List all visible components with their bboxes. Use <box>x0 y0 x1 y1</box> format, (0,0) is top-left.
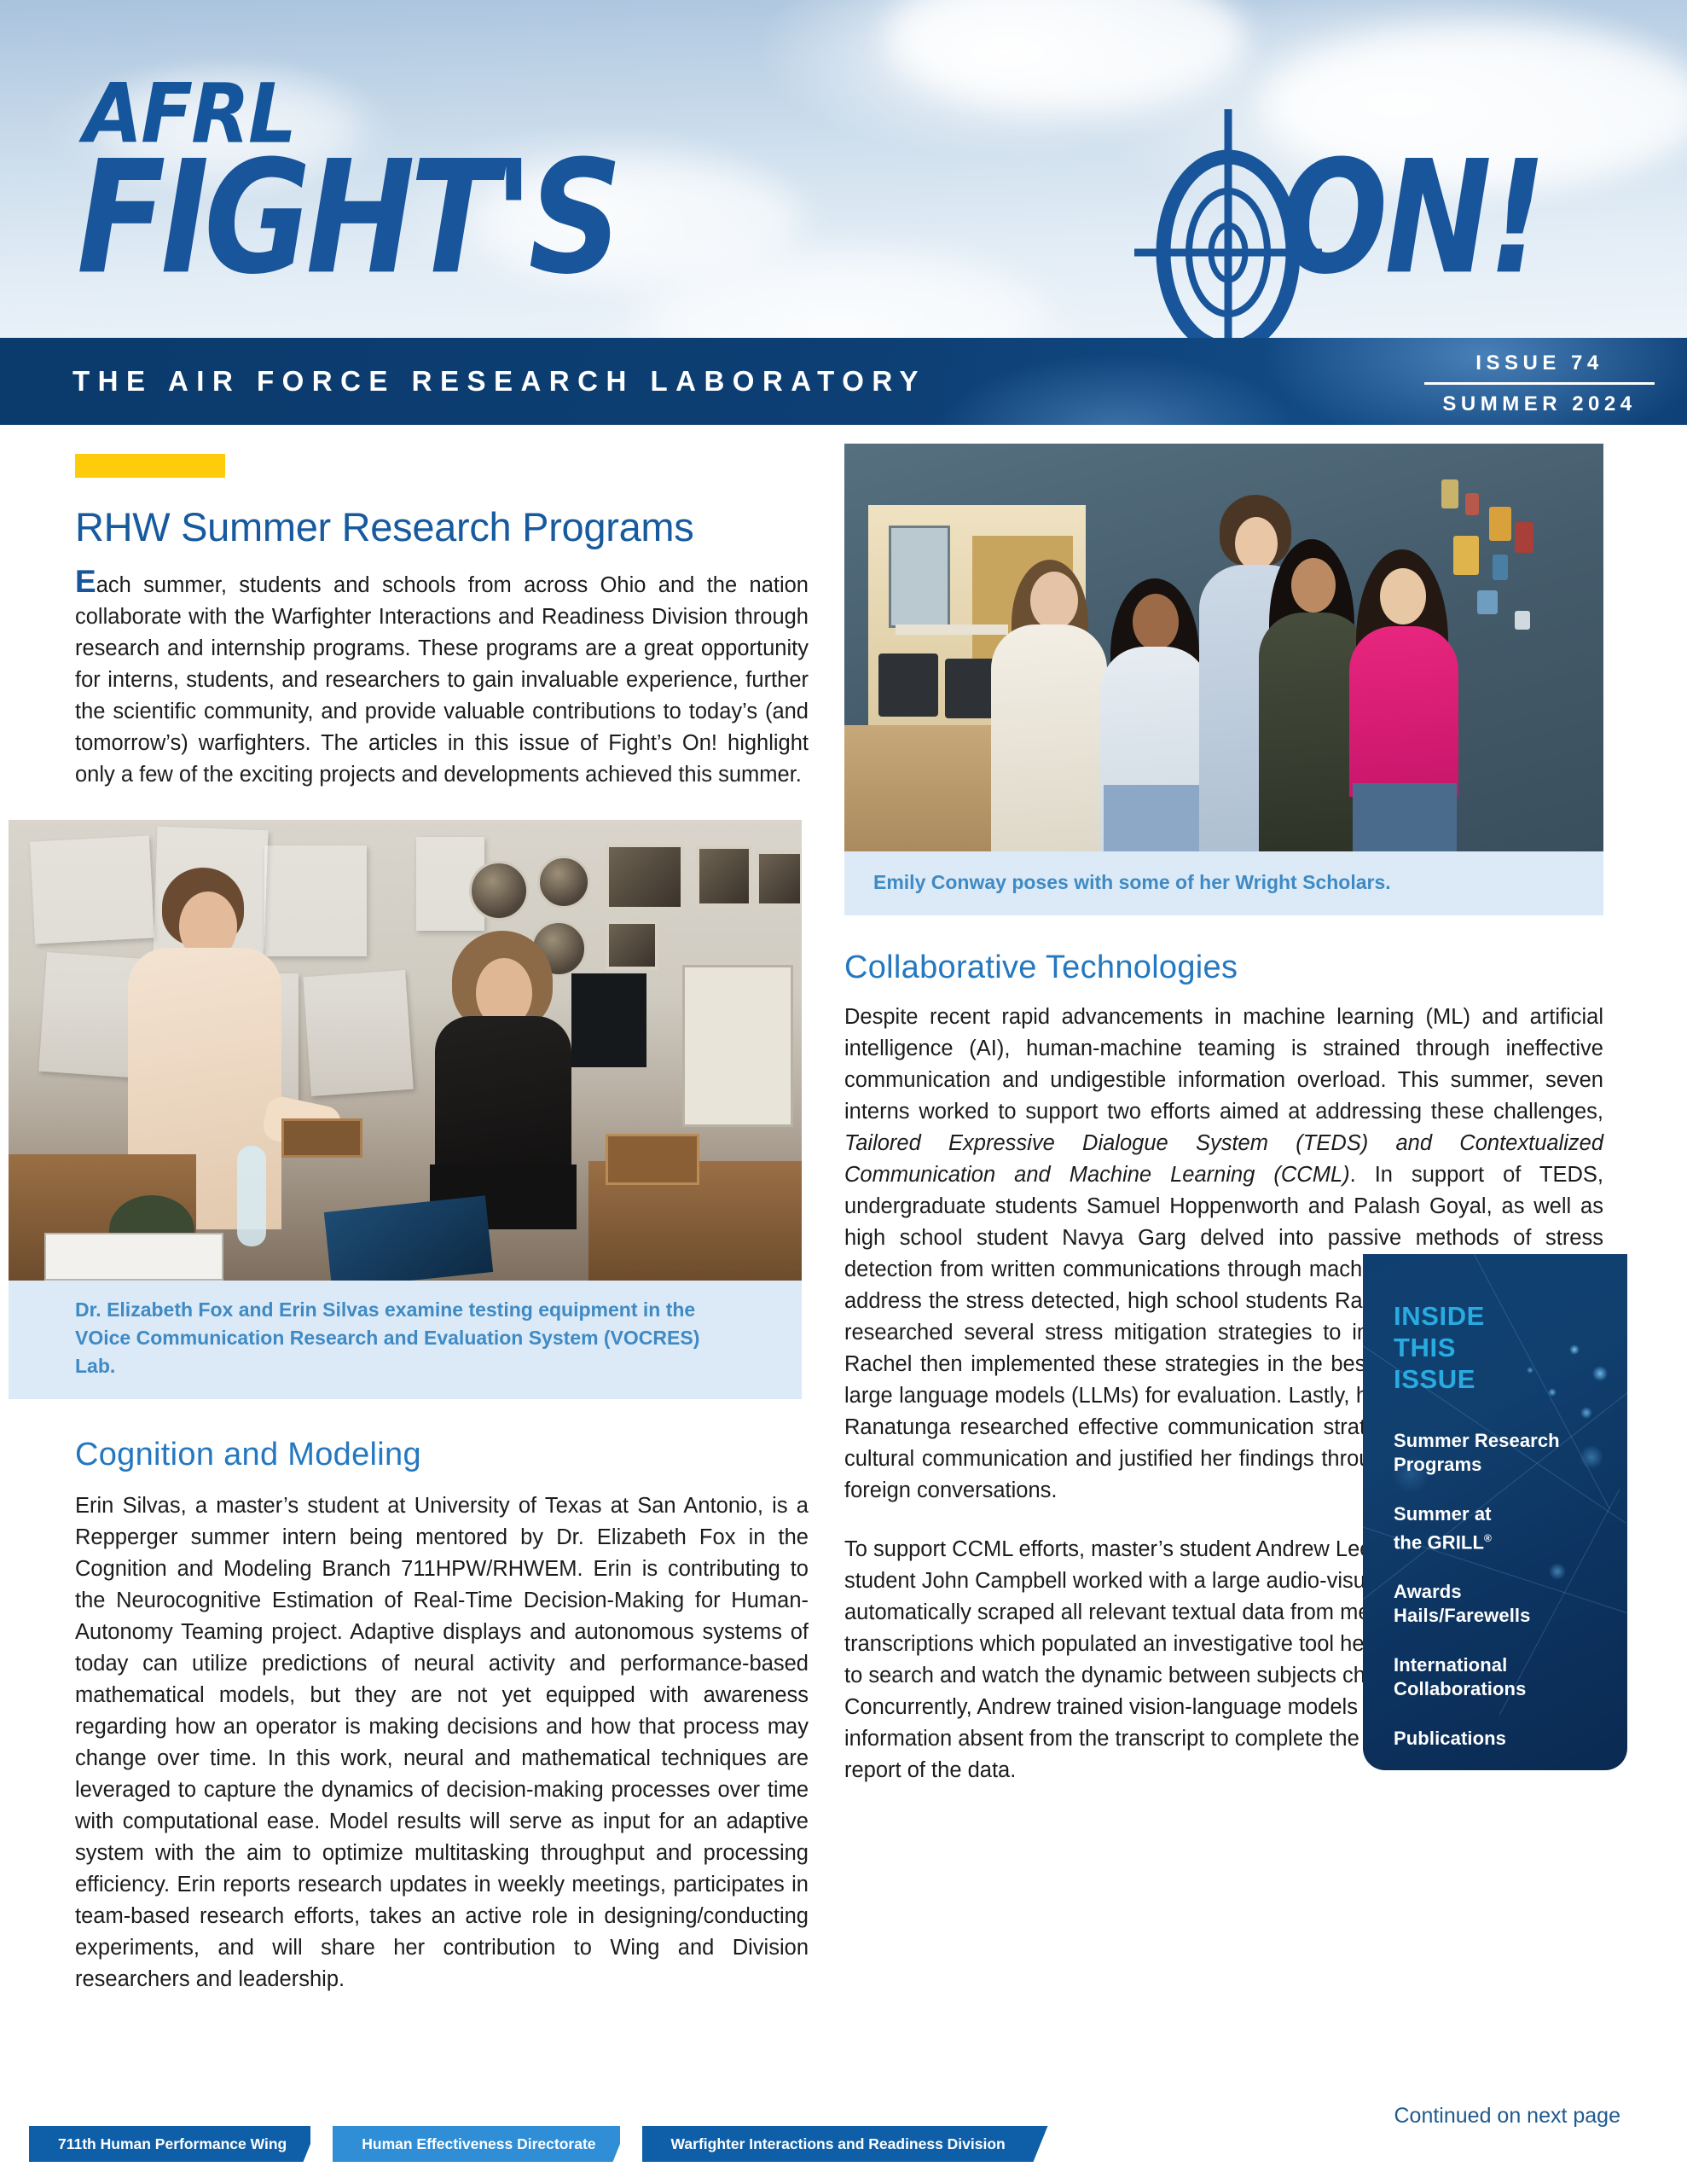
title-bar: THE AIR FORCE RESEARCH LABORATORY ISSUE … <box>0 338 1687 425</box>
accent-bar <box>75 454 225 478</box>
inside-item-summer-research[interactable]: Summer Research Programs <box>1394 1429 1627 1477</box>
inside-item-line-1: International <box>1394 1653 1627 1677</box>
group-photo-caption: Emily Conway poses with some of her Wrig… <box>844 851 1603 915</box>
cognition-body: Erin Silvas, a master’s student at Unive… <box>75 1490 809 1995</box>
cloud-decoration <box>887 0 1245 111</box>
section-heading-collaborative: Collaborative Technologies <box>844 950 1603 986</box>
inside-heading-line-1: INSIDE <box>1394 1300 1627 1332</box>
footer-segment-wing: 711th Human Performance Wing <box>29 2126 310 2162</box>
page-title: RHW Summer Research Programs <box>75 503 809 550</box>
section-heading-cognition: Cognition and Modeling <box>75 1437 809 1473</box>
inside-item-line-1: Awards <box>1394 1580 1627 1604</box>
inside-item-awards[interactable]: Awards Hails/Farewells <box>1394 1580 1627 1628</box>
inside-item-line-2: Hails/Farewells <box>1394 1604 1627 1628</box>
inside-this-issue-list: Summer Research Programs Summer at the G… <box>1394 1429 1627 1751</box>
inside-item-summer-grill[interactable]: Summer at the GRILL® <box>1394 1502 1627 1554</box>
inside-item-line-2: Programs <box>1394 1453 1627 1477</box>
inside-heading-line-2: THIS <box>1394 1332 1627 1363</box>
lede-text: Each summer, students and schools from a… <box>75 573 809 787</box>
inside-item-publications[interactable]: Publications <box>1394 1727 1627 1751</box>
lab-photo-caption: Dr. Elizabeth Fox and Erin Silvas examin… <box>9 1281 802 1399</box>
registered-mark-icon: ® <box>1484 1532 1492 1544</box>
inside-heading-line-3: ISSUE <box>1394 1363 1627 1395</box>
issue-number: ISSUE 74 <box>1416 350 1663 377</box>
footer-org-bar: 711th Human Performance Wing Human Effec… <box>29 2126 1041 2162</box>
lab-photo <box>9 820 802 1281</box>
inside-item-line-1: Summer Research <box>1394 1429 1627 1453</box>
continued-note: Continued on next page <box>1348 2104 1620 2129</box>
footer-segment-directorate: Human Effectiveness Directorate <box>333 2126 619 2162</box>
inside-item-international[interactable]: International Collaborations <box>1394 1653 1627 1701</box>
inside-item-line-2-text: the GRILL <box>1394 1531 1484 1553</box>
inside-item-line-2: the GRILL® <box>1394 1526 1627 1554</box>
inside-this-issue-heading: INSIDE THIS ISSUE <box>1394 1300 1627 1395</box>
issue-block: ISSUE 74 SUMMER 2024 <box>1416 350 1663 419</box>
masthead-banner: AFRL FIGHT'S ON! <box>0 0 1687 341</box>
logo-on-text: ON! <box>1279 128 1543 309</box>
group-photo <box>844 444 1603 851</box>
lede-paragraph: Each summer, students and schools from a… <box>75 566 809 791</box>
logo-fights-text: FIGHT'S <box>77 128 617 309</box>
inside-item-line-2: Collaborations <box>1394 1677 1627 1701</box>
newsletter-page: AFRL FIGHT'S ON! THE AIR FORCE RESEARCH … <box>0 0 1687 2184</box>
issue-season: SUMMER 2024 <box>1416 391 1663 418</box>
footer-segment-division: Warfighter Interactions and Readiness Di… <box>642 2126 1029 2162</box>
inside-item-line-1: Summer at <box>1394 1502 1627 1526</box>
inside-this-issue-box: INSIDE THIS ISSUE Summer Research Progra… <box>1363 1254 1627 1770</box>
inside-item-line-1: Publications <box>1394 1727 1627 1751</box>
left-column: RHW Summer Research Programs Each summer… <box>75 425 809 1995</box>
organization-title: THE AIR FORCE RESEARCH LABORATORY <box>72 365 926 398</box>
issue-divider <box>1424 382 1655 385</box>
collab-p1-part-a: Despite recent rapid advancements in mac… <box>844 1005 1603 1124</box>
